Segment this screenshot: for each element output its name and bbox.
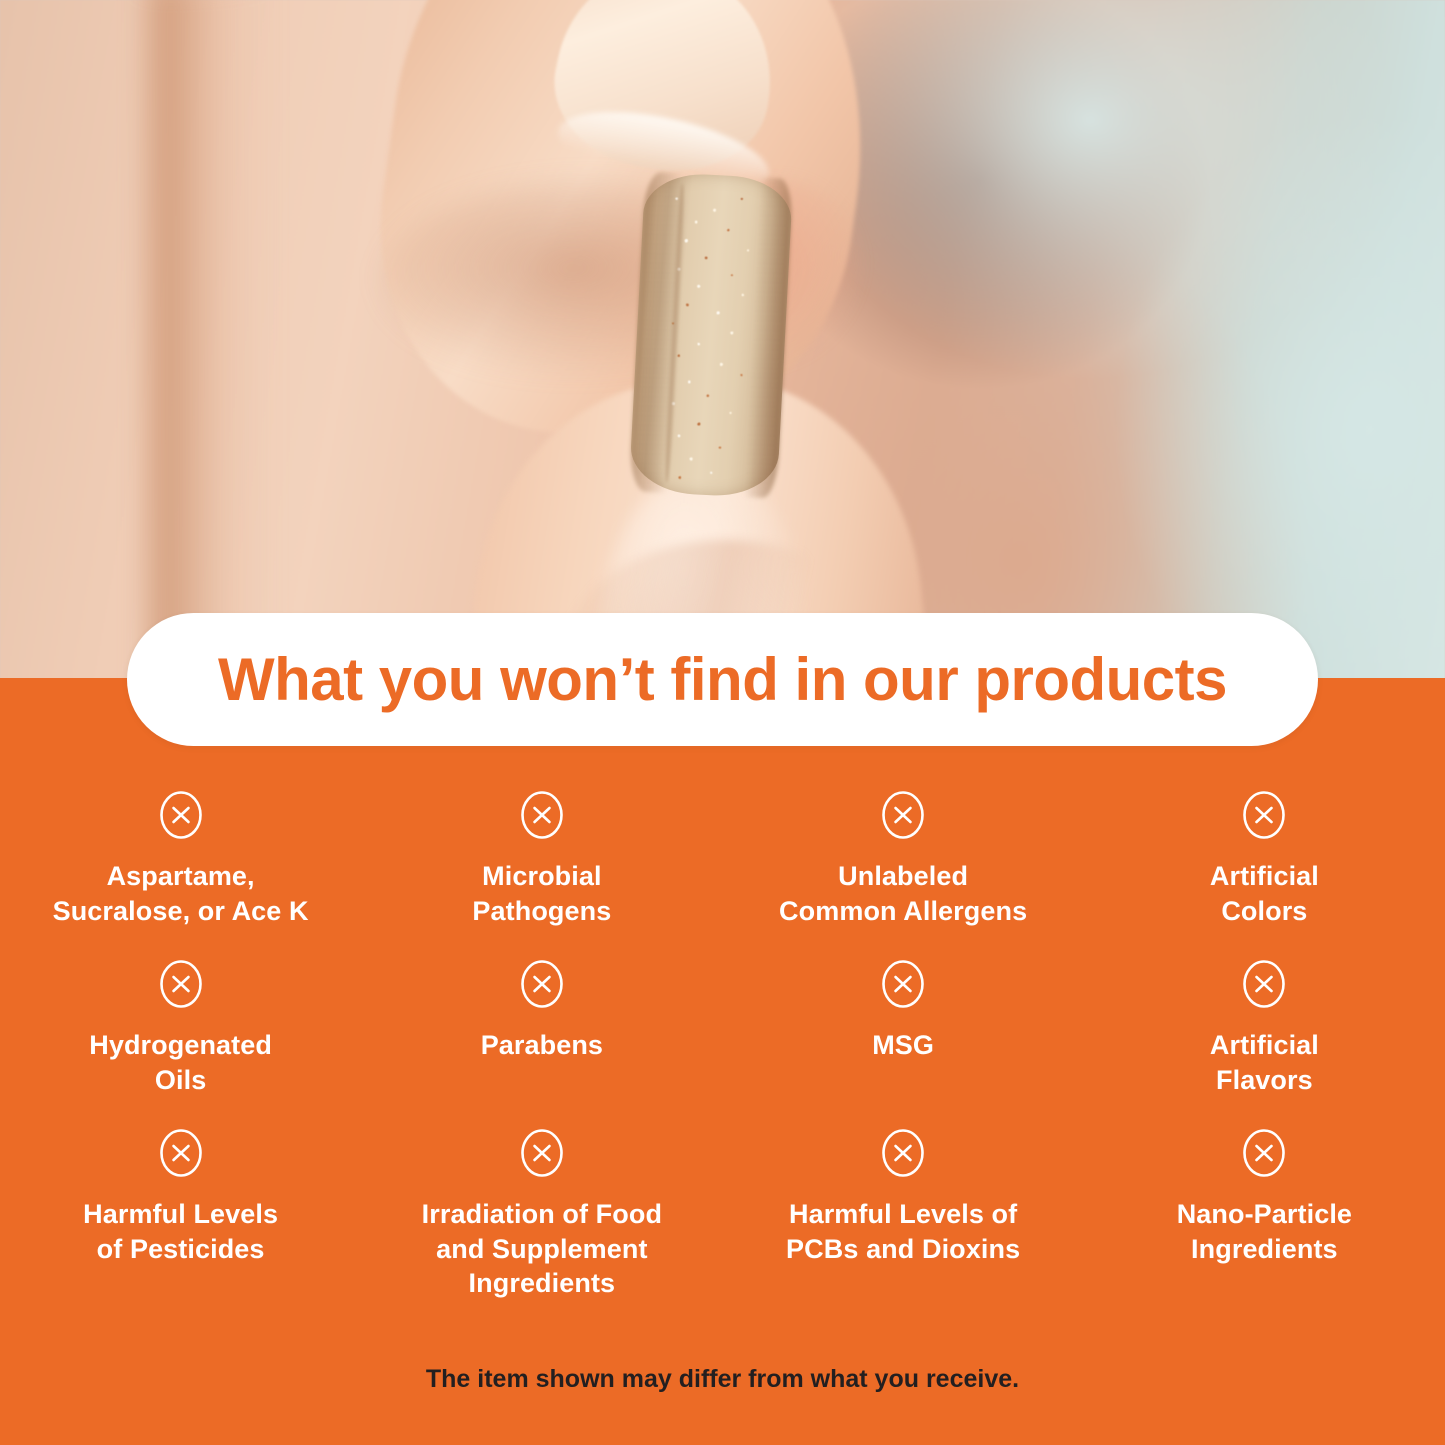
disclaimer-text: The item shown may differ from what you …	[0, 1365, 1445, 1394]
exclusions-grid: Aspartame, Sucralose, or Ace K Microbial…	[0, 790, 1445, 1328]
exclusion-label: Harmful Levels of Pesticides	[83, 1197, 278, 1266]
circle-x-icon	[1242, 1128, 1286, 1178]
exclusion-label: Parabens	[481, 1028, 603, 1063]
exclusions-row: Aspartame, Sucralose, or Ace K Microbial…	[0, 790, 1445, 959]
exclusion-item: Parabens	[361, 959, 722, 1128]
exclusion-label: Microbial Pathogens	[472, 859, 611, 928]
exclusion-item: Microbial Pathogens	[361, 790, 722, 959]
title-emphasis: won’t	[500, 646, 654, 713]
page-title: What you won’t find in our products	[218, 650, 1227, 710]
exclusion-item: Nano-Particle Ingredients	[1084, 1128, 1445, 1328]
exclusions-row: Harmful Levels of Pesticides Irradiation…	[0, 1128, 1445, 1328]
exclusion-label: Harmful Levels of PCBs and Dioxins	[786, 1197, 1020, 1266]
exclusion-item: Artificial Flavors	[1084, 959, 1445, 1128]
exclusion-label: MSG	[872, 1028, 934, 1063]
circle-x-icon	[520, 1128, 564, 1178]
exclusion-label: Artificial Flavors	[1210, 1028, 1319, 1097]
exclusion-item: Artificial Colors	[1084, 790, 1445, 959]
exclusion-item: Aspartame, Sucralose, or Ace K	[0, 790, 361, 959]
exclusion-label: Hydrogenated Oils	[89, 1028, 272, 1097]
circle-x-icon	[881, 959, 925, 1009]
headline-pill: What you won’t find in our products	[127, 613, 1318, 746]
title-prefix: What you	[218, 646, 500, 713]
circle-x-icon	[520, 959, 564, 1009]
circle-x-icon	[159, 790, 203, 840]
forearm-shadow	[150, 0, 270, 690]
exclusion-item: Hydrogenated Oils	[0, 959, 361, 1128]
exclusion-item: Irradiation of Food and Supplement Ingre…	[361, 1128, 722, 1328]
exclusion-item: MSG	[723, 959, 1084, 1128]
circle-x-icon	[881, 790, 925, 840]
exclusion-item: Harmful Levels of PCBs and Dioxins	[723, 1128, 1084, 1328]
exclusion-item: Unlabeled Common Allergens	[723, 790, 1084, 959]
exclusion-item: Harmful Levels of Pesticides	[0, 1128, 361, 1328]
product-photo	[0, 0, 1445, 690]
exclusion-label: Artificial Colors	[1210, 859, 1319, 928]
circle-x-icon	[159, 1128, 203, 1178]
exclusion-label: Irradiation of Food and Supplement Ingre…	[422, 1197, 662, 1301]
circle-x-icon	[159, 959, 203, 1009]
circle-x-icon	[1242, 959, 1286, 1009]
supplement-tablet	[629, 171, 794, 498]
exclusions-row: Hydrogenated Oils Parabens MSG	[0, 959, 1445, 1128]
circle-x-icon	[881, 1128, 925, 1178]
exclusion-label: Aspartame, Sucralose, or Ace K	[53, 859, 309, 928]
exclusion-label: Unlabeled Common Allergens	[779, 859, 1027, 928]
exclusion-label: Nano-Particle Ingredients	[1177, 1197, 1352, 1266]
circle-x-icon	[520, 790, 564, 840]
product-claims-card: What you won’t find in our products Aspa…	[0, 0, 1445, 1445]
circle-x-icon	[1242, 790, 1286, 840]
title-suffix: find in our products	[654, 646, 1227, 713]
